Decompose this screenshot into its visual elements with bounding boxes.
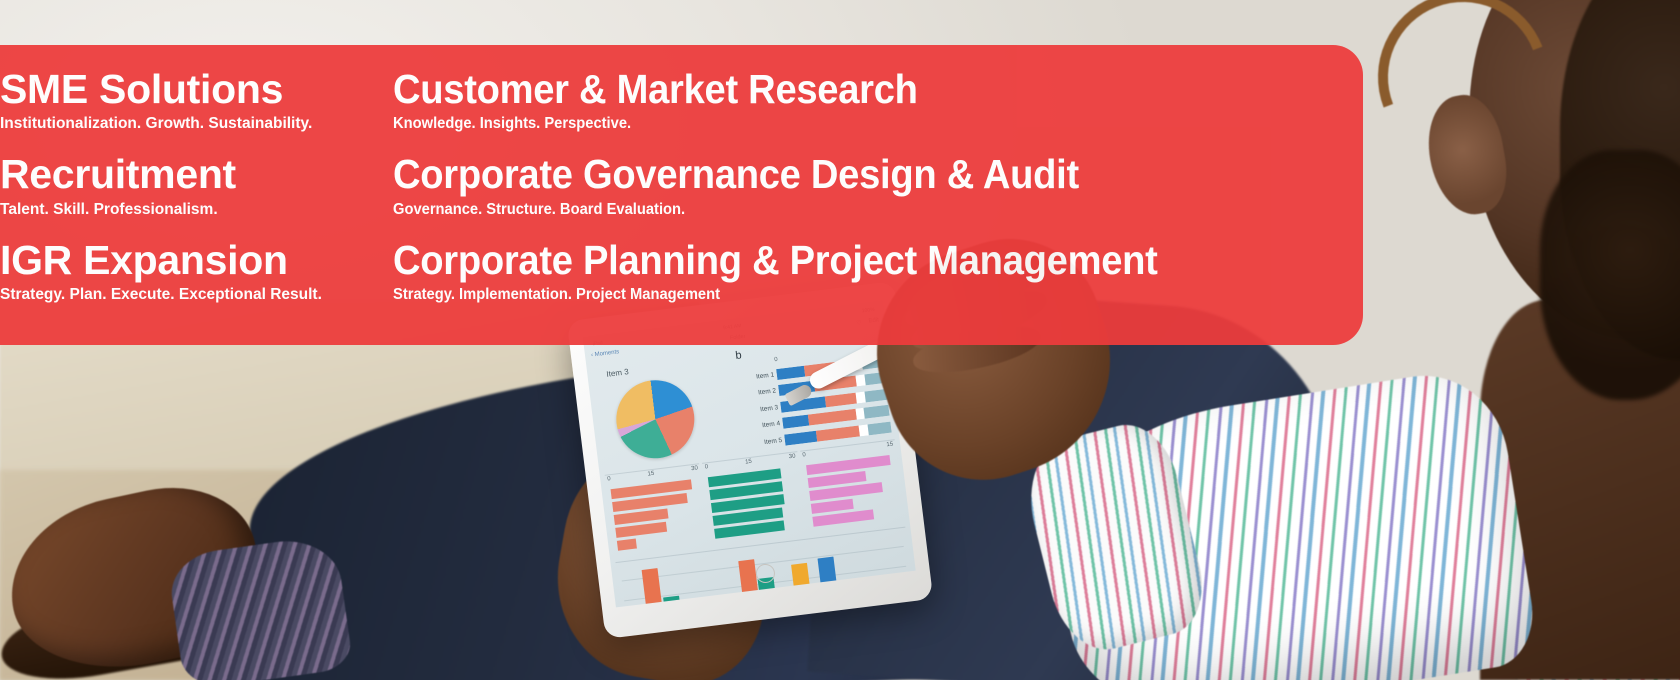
service-item-corporate-governance[interactable]: Corporate Governance Design & Audit Gove… <box>393 152 1363 217</box>
services-column-left: SME Solutions Institutionalization. Grow… <box>0 45 393 345</box>
service-title: Customer & Market Research <box>393 67 1295 111</box>
mini-bar-chart-2: 0 15 30 <box>702 451 807 548</box>
service-title: Corporate Planning & Project Management <box>393 238 1295 282</box>
axis-tick: 0 <box>705 464 709 470</box>
row-label: Item 1 <box>732 371 778 383</box>
row-label: Item 4 <box>738 420 784 432</box>
axis-tick: 15 <box>745 459 752 466</box>
mini-bar-chart-1: 0 15 30 <box>605 463 710 560</box>
service-item-customer-market-research[interactable]: Customer & Market Research Knowledge. In… <box>393 67 1363 132</box>
service-item-corporate-planning[interactable]: Corporate Planning & Project Management … <box>393 238 1363 303</box>
service-title: Recruitment <box>0 152 393 196</box>
services-column-right: Customer & Market Research Knowledge. In… <box>393 45 1363 345</box>
service-subtitle: Institutionalization. Growth. Sustainabi… <box>0 115 393 132</box>
service-subtitle: Governance. Structure. Board Evaluation. <box>393 201 1315 218</box>
service-item-recruitment[interactable]: Recruitment Talent. Skill. Professionali… <box>0 152 393 217</box>
pie-chart-graphic <box>612 376 699 463</box>
row-label: Item 2 <box>734 387 780 399</box>
axis-tick: 30 <box>691 465 698 472</box>
mini-bars <box>806 454 902 532</box>
service-subtitle: Strategy. Implementation. Project Manage… <box>393 286 1315 303</box>
mini-bars <box>611 478 707 556</box>
axis-tick: 15 <box>886 441 893 448</box>
axis-tick: 0 <box>607 476 611 482</box>
axis-tick: 15 <box>647 471 654 478</box>
service-title: Corporate Governance Design & Audit <box>393 152 1295 196</box>
axis-tick: 0 <box>774 357 778 366</box>
beard <box>1540 150 1680 400</box>
service-subtitle: Talent. Skill. Professionalism. <box>0 201 393 218</box>
stacked-bar-title: b <box>735 349 743 362</box>
stacked-bar-rows: Item 1 Item 2 <box>732 354 893 454</box>
service-item-sme-solutions[interactable]: SME Solutions Institutionalization. Grow… <box>0 67 393 132</box>
axis-tick: 0 <box>802 452 806 458</box>
pie-chart-label: Item 3 <box>606 367 629 379</box>
row-label: Item 3 <box>736 403 782 415</box>
service-subtitle: Strategy. Plan. Execute. Exceptional Res… <box>0 286 393 303</box>
back-button[interactable]: ‹ Moments <box>591 349 620 358</box>
banner-hero: iPad 9:41 AM 100% ‹ Moments Folder ♡ Edi… <box>0 0 1680 680</box>
services-banner-panel: SME Solutions Institutionalization. Grow… <box>0 45 1363 345</box>
service-subtitle: Knowledge. Insights. Perspective. <box>393 115 1315 132</box>
service-item-igr-expansion[interactable]: IGR Expansion Strategy. Plan. Execute. E… <box>0 238 393 303</box>
axis-tick: 30 <box>789 453 796 460</box>
service-title: SME Solutions <box>0 67 393 111</box>
dashboard: Item 3 b 0 30 Item 1 <box>586 327 916 607</box>
mini-bar-chart-3: 0 15 <box>800 439 905 536</box>
service-title: IGR Expansion <box>0 238 393 282</box>
row-label: Item 5 <box>740 436 786 448</box>
pie-chart: Item 3 <box>591 349 737 473</box>
mini-bars <box>708 466 804 544</box>
